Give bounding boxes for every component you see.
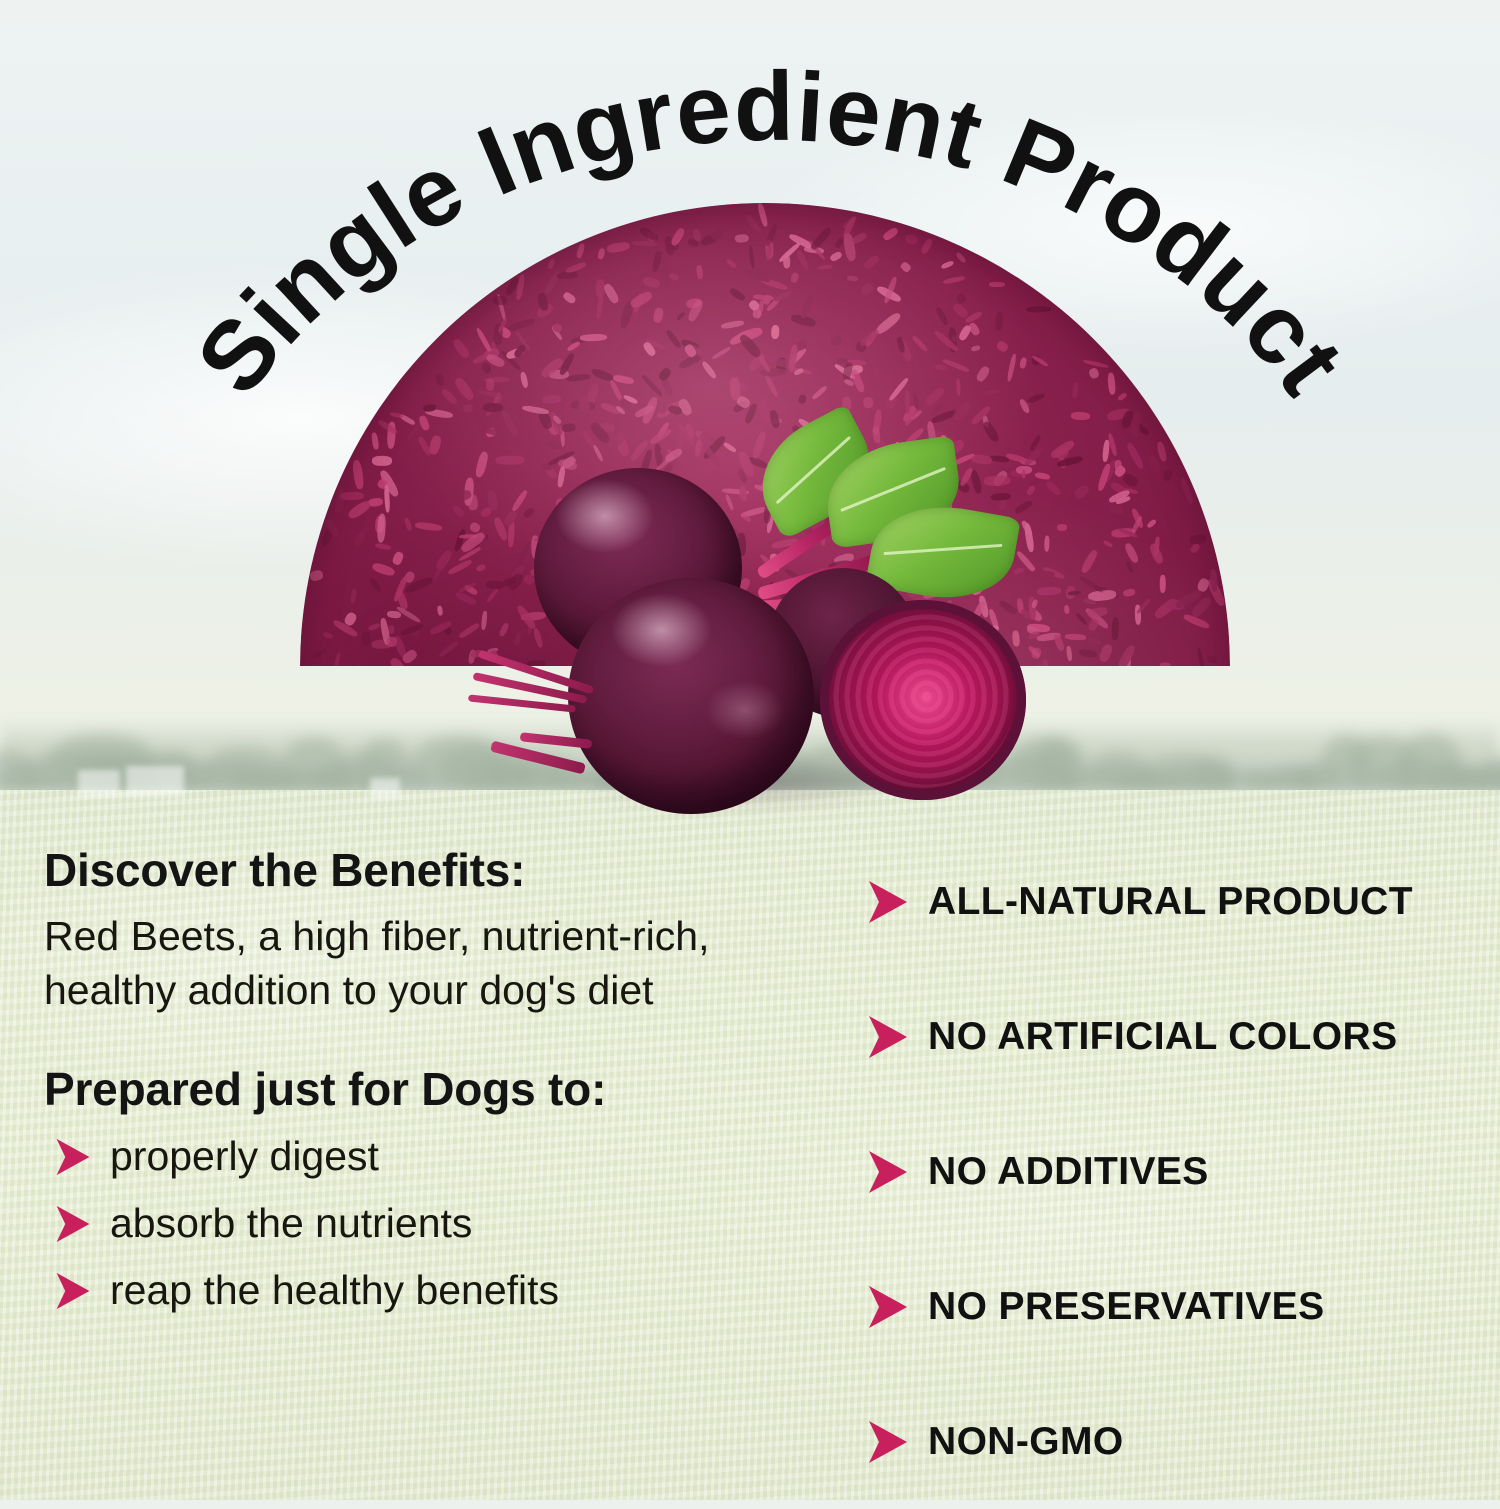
- claim-list-item: ALL-NATURAL PRODUCT: [866, 834, 1456, 969]
- claims-list: ALL-NATURAL PRODUCTNO ARTIFICIAL COLORSN…: [866, 834, 1456, 1509]
- prepared-item-label: reap the healthy benefits: [110, 1267, 559, 1314]
- arrow-bullet-icon: [54, 1204, 92, 1244]
- beet-slice-core: [878, 652, 973, 744]
- arrow-bullet-icon: [866, 1149, 910, 1195]
- headline-textpath: Single Ingredient Product: [175, 51, 1366, 414]
- claim-label: NO PRESERVATIVES: [928, 1285, 1325, 1329]
- claim-list-item: NO ARTIFICIAL COLORS: [866, 969, 1456, 1104]
- fresh-beets-image: [468, 420, 1040, 840]
- prepared-list-item: absorb the nutrients: [44, 1200, 824, 1247]
- arrow-bullet-icon: [866, 1419, 910, 1465]
- arrow-bullet-icon: [866, 1284, 910, 1330]
- claim-label: ALL-NATURAL PRODUCT: [928, 880, 1413, 924]
- prepared-item-label: absorb the nutrients: [110, 1200, 472, 1247]
- beet-whole-front: [568, 578, 814, 814]
- prepared-list: properly digestabsorb the nutrientsreap …: [44, 1133, 824, 1314]
- prepared-item-label: properly digest: [110, 1133, 379, 1180]
- content-panel: Discover the Benefits: Red Beets, a high…: [0, 820, 1500, 1500]
- claim-label: NO ADDITIVES: [928, 1150, 1209, 1194]
- barn-shape-3: [370, 778, 400, 798]
- arrow-bullet-icon: [866, 1014, 910, 1060]
- prepared-list-item: reap the healthy benefits: [44, 1267, 824, 1314]
- right-column: ALL-NATURAL PRODUCTNO ARTIFICIAL COLORSN…: [824, 820, 1456, 1500]
- claim-list-item: NON-GMO: [866, 1374, 1456, 1509]
- benefits-heading: Discover the Benefits:: [44, 846, 824, 894]
- claim-list-item: NO ADDITIVES: [866, 1104, 1456, 1239]
- claim-list-item: NO PRESERVATIVES: [866, 1239, 1456, 1374]
- left-column: Discover the Benefits: Red Beets, a high…: [44, 820, 824, 1500]
- arrow-bullet-icon: [54, 1137, 92, 1177]
- claim-label: NO ARTIFICIAL COLORS: [928, 1015, 1398, 1059]
- prepared-heading: Prepared just for Dogs to:: [44, 1065, 824, 1113]
- claim-label: NON-GMO: [928, 1420, 1124, 1464]
- arrow-bullet-icon: [54, 1271, 92, 1311]
- arrow-bullet-icon: [866, 879, 910, 925]
- benefits-body: Red Beets, a high fiber, nutrient-rich, …: [44, 910, 744, 1017]
- beet-sliced: [820, 600, 1026, 800]
- headline-text: Single Ingredient Product: [175, 51, 1366, 414]
- prepared-list-item: properly digest: [44, 1133, 824, 1180]
